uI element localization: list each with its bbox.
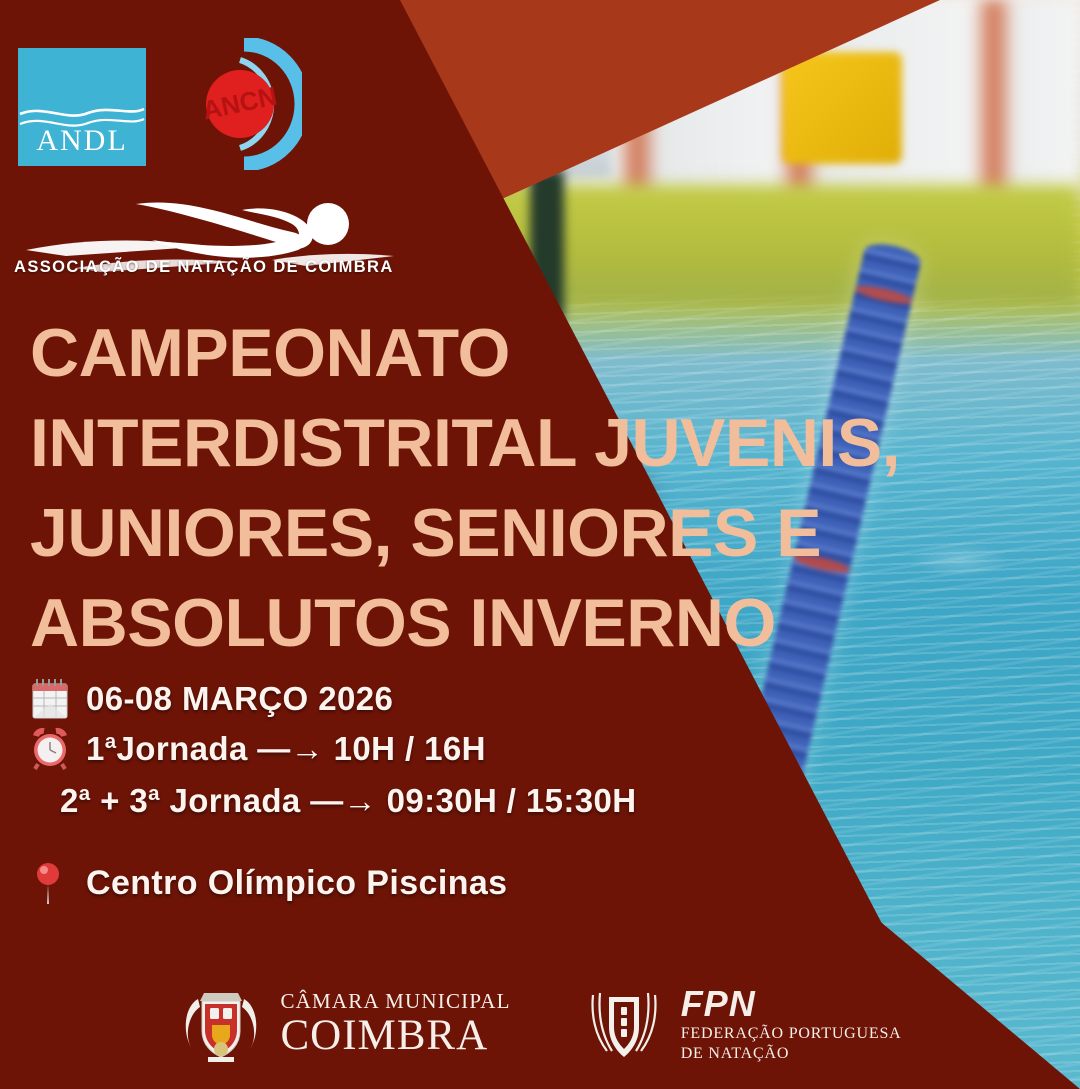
title-line-4: ABSOLUTOS INVERNO — [30, 578, 1040, 668]
event-details: 06-08 MARÇO 2026 1aJornada —→ 10H / 16H — [28, 676, 848, 910]
coimbra-line-1: CÂMARA MUNICIPAL — [280, 991, 510, 1012]
map-pin-icon — [28, 860, 72, 906]
lifeguard-chair — [782, 52, 902, 164]
detail-row-session-23: 2a + 3a Jornada —→ 09:30H / 15:30H — [60, 782, 848, 820]
event-poster: ANDL ANCN ASSOCIAÇÃO DE NATAÇÃO DE COIMB… — [0, 0, 1080, 1089]
detail-row-date: 06-08 MARÇO 2026 — [28, 676, 848, 722]
anc-coimbra-label: ASSOCIAÇÃO DE NATAÇÃO DE COIMBRA — [14, 258, 394, 277]
fpn-line-1: FEDERAÇÃO PORTUGUESA — [681, 1026, 902, 1043]
session-1-sup: a — [105, 730, 117, 753]
fpn-shield-icon — [581, 981, 667, 1067]
detail-session-23-text: 2a + 3a Jornada —→ 09:30H / 15:30H — [60, 782, 637, 820]
title-line-3: JUNIORES, SENIORES E — [30, 488, 1040, 578]
fpn-abbr: FPN — [681, 985, 902, 1023]
ancn-logo: ANCN — [196, 38, 302, 170]
session-1-body: Jornada —→ 10H / 16H — [117, 730, 486, 767]
alarm-clock-icon — [28, 726, 72, 772]
title-line-2: INTERDISTRITAL JUVENIS, — [30, 398, 1040, 488]
detail-row-venue: Centro Olímpico Piscinas — [28, 860, 848, 906]
coimbra-coat-of-arms-icon — [178, 981, 264, 1067]
detail-row-session-1: 1aJornada —→ 10H / 16H — [28, 726, 848, 772]
detail-date-text: 06-08 MARÇO 2026 — [86, 680, 393, 718]
andl-label: ANDL — [18, 124, 146, 158]
page-title: CAMPEONATO INTERDISTRITAL JUVENIS, JUNIO… — [30, 308, 1040, 668]
detail-venue-text: Centro Olímpico Piscinas — [86, 864, 508, 903]
footer-logos: CÂMARA MUNICIPAL COIMBRA — [0, 959, 1080, 1089]
coimbra-text: CÂMARA MUNICIPAL COIMBRA — [280, 991, 510, 1057]
fpn-logo: FPN FEDERAÇÃO PORTUGUESA DE NATAÇÃO — [581, 981, 902, 1067]
detail-session-1-text: 1aJornada —→ 10H / 16H — [86, 730, 486, 768]
andl-logo: ANDL — [18, 48, 146, 166]
camara-municipal-coimbra-logo: CÂMARA MUNICIPAL COIMBRA — [178, 981, 510, 1067]
calendar-icon — [28, 676, 72, 722]
session-1-ordinal: 1 — [86, 730, 105, 767]
fpn-line-2: DE NATAÇÃO — [681, 1046, 902, 1063]
fpn-text: FPN FEDERAÇÃO PORTUGUESA DE NATAÇÃO — [681, 985, 902, 1062]
title-line-1: CAMPEONATO — [30, 308, 1040, 398]
coimbra-line-2: COIMBRA — [280, 1014, 510, 1057]
ancn-arc-icon: ANCN — [196, 38, 302, 170]
